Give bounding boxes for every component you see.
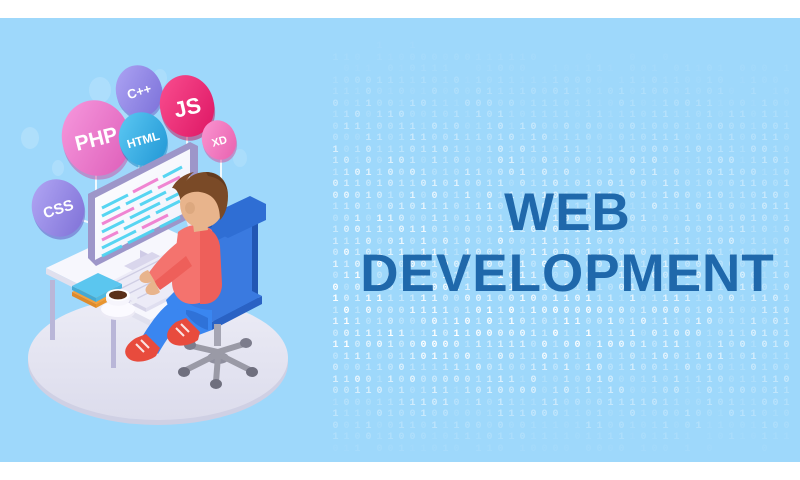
- binary-glyph: 0: [363, 76, 374, 88]
- binary-glyph: 1: [770, 375, 781, 387]
- binary-glyph: 0: [583, 409, 594, 421]
- binary-glyph: 1: [374, 53, 385, 65]
- binary-glyph: 0: [638, 110, 649, 122]
- binary-glyph: 0: [715, 122, 726, 134]
- binary-glyph: 1: [462, 363, 473, 375]
- binary-glyph: 1: [374, 110, 385, 122]
- binary-glyph: 1: [605, 168, 616, 180]
- binary-glyph: 1: [572, 409, 583, 421]
- binary-glyph: 1: [528, 398, 539, 410]
- binary-glyph: 1: [396, 398, 407, 410]
- binary-glyph: 1: [528, 168, 539, 180]
- binary-glyph: 1: [341, 444, 352, 456]
- binary-glyph: 1: [704, 421, 715, 433]
- binary-glyph: 1: [726, 168, 737, 180]
- binary-glyph: 0: [561, 99, 572, 111]
- binary-glyph: 1: [528, 432, 539, 444]
- binary-glyph: 0: [352, 363, 363, 375]
- binary-glyph: 0: [495, 168, 506, 180]
- binary-glyph: 0: [594, 317, 605, 329]
- binary-glyph: 0: [462, 317, 473, 329]
- binary-glyph: 1: [341, 168, 352, 180]
- binary-glyph: 1: [517, 122, 528, 134]
- binary-glyph: 0: [385, 317, 396, 329]
- binary-glyph: 1: [429, 110, 440, 122]
- binary-glyph: 1: [396, 386, 407, 398]
- binary-glyph: 1: [473, 53, 484, 65]
- binary-glyph: 1: [440, 99, 451, 111]
- binary-glyph: 1: [748, 122, 759, 134]
- binary-glyph: 1: [495, 375, 506, 387]
- binary-glyph: 1: [407, 421, 418, 433]
- binary-glyph: 0: [660, 409, 671, 421]
- binary-glyph: 0: [770, 317, 781, 329]
- binary-glyph: 1: [341, 375, 352, 387]
- binary-glyph: 0: [495, 329, 506, 341]
- binary-glyph: 1: [638, 444, 649, 456]
- binary-glyph: 0: [726, 99, 737, 111]
- binary-glyph: 1: [528, 145, 539, 157]
- binary-glyph: 1: [539, 432, 550, 444]
- binary-glyph: 1: [517, 444, 528, 456]
- binary-glyph: 0: [451, 340, 462, 352]
- binary-glyph: 0: [638, 386, 649, 398]
- binary-glyph: 0: [781, 409, 792, 421]
- binary-glyph: 0: [759, 76, 770, 88]
- binary-glyph: 0: [341, 329, 352, 341]
- binary-glyph: 1: [528, 133, 539, 145]
- binary-glyph: 0: [462, 375, 473, 387]
- binary-glyph: 1: [693, 168, 704, 180]
- binary-glyph: 0: [484, 421, 495, 433]
- binary-glyph: 0: [506, 363, 517, 375]
- binary-glyph: 0: [517, 363, 528, 375]
- binary-glyph: 0: [374, 444, 385, 456]
- binary-glyph: 0: [682, 421, 693, 433]
- binary-glyph: 1: [440, 122, 451, 134]
- binary-glyph: 0: [473, 99, 484, 111]
- binary-glyph: 0: [583, 76, 594, 88]
- binary-glyph: 1: [418, 386, 429, 398]
- binary-glyph: 0: [517, 99, 528, 111]
- binary-glyph: 1: [385, 53, 396, 65]
- binary-glyph: 1: [770, 386, 781, 398]
- binary-glyph: 0: [561, 340, 572, 352]
- binary-glyph: 0: [627, 168, 638, 180]
- binary-glyph: 1: [704, 329, 715, 341]
- binary-glyph: 0: [671, 409, 682, 421]
- binary-glyph: 1: [407, 122, 418, 134]
- binary-glyph: 0: [539, 317, 550, 329]
- binary-glyph: 0: [352, 340, 363, 352]
- binary-glyph: 1: [473, 432, 484, 444]
- binary-glyph: 1: [594, 375, 605, 387]
- binary-glyph: 1: [506, 87, 517, 99]
- binary-glyph: 1: [759, 156, 770, 168]
- binary-glyph: 0: [605, 421, 616, 433]
- binary-glyph: 1: [506, 76, 517, 88]
- binary-glyph: 1: [671, 145, 682, 157]
- binary-glyph: 0: [737, 352, 748, 364]
- binary-glyph: 1: [484, 444, 495, 456]
- binary-glyph: 0: [528, 53, 539, 65]
- binary-glyph: 1: [616, 352, 627, 364]
- binary-glyph: 1: [693, 122, 704, 134]
- binary-glyph: 1: [539, 375, 550, 387]
- binary-glyph: 0: [396, 340, 407, 352]
- binary-glyph: 1: [407, 306, 418, 318]
- binary-glyph: 1: [517, 352, 528, 364]
- binary-glyph: 1: [341, 122, 352, 134]
- binary-glyph: 0: [440, 409, 451, 421]
- binary-glyph: 1: [682, 110, 693, 122]
- binary-glyph: 0: [451, 444, 462, 456]
- binary-glyph: 0: [561, 444, 572, 456]
- binary-glyph: 1: [704, 340, 715, 352]
- binary-glyph: 0: [770, 156, 781, 168]
- binary-glyph: 1: [462, 145, 473, 157]
- binary-glyph: 1: [495, 110, 506, 122]
- binary-glyph: 1: [682, 386, 693, 398]
- binary-glyph: 0: [649, 156, 660, 168]
- binary-glyph: 0: [385, 386, 396, 398]
- binary-glyph: 1: [539, 99, 550, 111]
- binary-glyph: 1: [583, 145, 594, 157]
- binary-glyph: 1: [704, 76, 715, 88]
- binary-glyph: 1: [385, 409, 396, 421]
- binary-glyph: 1: [418, 444, 429, 456]
- binary-glyph: 1: [506, 398, 517, 410]
- binary-glyph: 1: [605, 133, 616, 145]
- binary-glyph: 1: [495, 53, 506, 65]
- binary-glyph: 1: [748, 409, 759, 421]
- binary-glyph: 0: [561, 168, 572, 180]
- binary-glyph: 0: [704, 168, 715, 180]
- binary-glyph: 1: [473, 76, 484, 88]
- binary-glyph: 0: [407, 53, 418, 65]
- binary-glyph: 0: [550, 363, 561, 375]
- binary-glyph: 1: [671, 317, 682, 329]
- binary-glyph: 1: [649, 432, 660, 444]
- binary-glyph: 0: [550, 122, 561, 134]
- binary-glyph: 1: [341, 409, 352, 421]
- binary-glyph: 1: [374, 317, 385, 329]
- binary-glyph: 0: [583, 398, 594, 410]
- binary-glyph: 0: [693, 409, 704, 421]
- binary-glyph: 0: [341, 156, 352, 168]
- binary-glyph: 0: [715, 375, 726, 387]
- binary-glyph: 0: [440, 53, 451, 65]
- binary-glyph: 0: [660, 306, 671, 318]
- binary-glyph: 1: [506, 156, 517, 168]
- binary-glyph: 0: [616, 306, 627, 318]
- binary-glyph: 0: [352, 432, 363, 444]
- binary-glyph: 0: [616, 122, 627, 134]
- binary-glyph: 0: [781, 421, 792, 433]
- binary-glyph: 1: [671, 340, 682, 352]
- binary-glyph: 0: [682, 363, 693, 375]
- binary-glyph: 0: [649, 444, 660, 456]
- binary-glyph: 0: [605, 87, 616, 99]
- binary-glyph: 1: [550, 398, 561, 410]
- binary-glyph: 1: [638, 156, 649, 168]
- binary-glyph: 1: [748, 340, 759, 352]
- binary-glyph: 1: [671, 375, 682, 387]
- binary-glyph: 1: [605, 432, 616, 444]
- binary-glyph: 1: [605, 317, 616, 329]
- binary-glyph: 1: [495, 409, 506, 421]
- binary-glyph: 0: [473, 156, 484, 168]
- binary-glyph: 1: [418, 306, 429, 318]
- binary-glyph: 1: [517, 340, 528, 352]
- binary-glyph: 1: [407, 444, 418, 456]
- binary-glyph: 1: [737, 363, 748, 375]
- binary-glyph: 1: [704, 375, 715, 387]
- binary-glyph: 1: [649, 168, 660, 180]
- binary-glyph: 1: [462, 168, 473, 180]
- binary-glyph: 0: [440, 375, 451, 387]
- binary-glyph: 0: [737, 99, 748, 111]
- binary-glyph: 0: [605, 363, 616, 375]
- binary-glyph: 1: [363, 122, 374, 134]
- binary-glyph: 1: [616, 432, 627, 444]
- binary-glyph: 1: [539, 145, 550, 157]
- binary-glyph: 1: [374, 41, 385, 53]
- binary-glyph: 0: [737, 64, 748, 76]
- binary-glyph: 1: [385, 87, 396, 99]
- binary-glyph: 1: [352, 64, 363, 76]
- binary-glyph: 0: [352, 110, 363, 122]
- binary-glyph: 0: [451, 409, 462, 421]
- binary-glyph: 0: [561, 352, 572, 364]
- binary-glyph: 1: [561, 110, 572, 122]
- binary-glyph: 0: [649, 329, 660, 341]
- binary-glyph: 1: [649, 99, 660, 111]
- binary-glyph: 1: [561, 329, 572, 341]
- binary-glyph: 1: [352, 409, 363, 421]
- binary-glyph: 1: [429, 386, 440, 398]
- binary-glyph: 0: [539, 156, 550, 168]
- binary-glyph: 1: [418, 145, 429, 157]
- binary-glyph: 1: [550, 432, 561, 444]
- binary-glyph: 0: [363, 340, 374, 352]
- binary-glyph: 0: [550, 87, 561, 99]
- binary-glyph: 1: [352, 386, 363, 398]
- binary-glyph: 1: [418, 363, 429, 375]
- binary-glyph: 0: [341, 363, 352, 375]
- binary-glyph: 0: [363, 110, 374, 122]
- binary-glyph: 1: [451, 110, 462, 122]
- binary-glyph: 1: [473, 110, 484, 122]
- binary-glyph: 1: [440, 386, 451, 398]
- binary-glyph: 0: [605, 99, 616, 111]
- binary-glyph: 0: [671, 64, 682, 76]
- binary-glyph: 0: [506, 168, 517, 180]
- binary-glyph: 1: [506, 145, 517, 157]
- binary-glyph: 1: [517, 156, 528, 168]
- binary-glyph: 1: [737, 409, 748, 421]
- binary-glyph: 0: [748, 145, 759, 157]
- binary-glyph: 1: [660, 99, 671, 111]
- binary-glyph: 0: [407, 110, 418, 122]
- binary-glyph: 1: [715, 133, 726, 145]
- binary-glyph: 1: [561, 363, 572, 375]
- binary-glyph: 1: [473, 317, 484, 329]
- binary-glyph: 1: [649, 317, 660, 329]
- binary-glyph: 0: [539, 168, 550, 180]
- binary-glyph: 0: [396, 53, 407, 65]
- binary-glyph: 0: [583, 87, 594, 99]
- binary-glyph: 1: [671, 398, 682, 410]
- binary-glyph: 0: [385, 421, 396, 433]
- binary-glyph: 0: [539, 87, 550, 99]
- binary-glyph: 0: [704, 122, 715, 134]
- binary-glyph: 0: [374, 340, 385, 352]
- binary-glyph: 0: [396, 306, 407, 318]
- binary-glyph: 0: [616, 386, 627, 398]
- binary-glyph: 0: [495, 99, 506, 111]
- binary-glyph: 1: [649, 133, 660, 145]
- binary-glyph: 1: [352, 87, 363, 99]
- binary-glyph: 1: [616, 76, 627, 88]
- binary-glyph: 0: [616, 340, 627, 352]
- binary-glyph: 1: [682, 409, 693, 421]
- binary-glyph: 1: [396, 145, 407, 157]
- title-line-web: WEB: [340, 186, 795, 239]
- binary-glyph: 1: [539, 76, 550, 88]
- binary-glyph: 0: [594, 306, 605, 318]
- binary-glyph: 1: [715, 87, 726, 99]
- binary-glyph: 1: [583, 363, 594, 375]
- binary-glyph: 0: [440, 110, 451, 122]
- binary-glyph: 1: [341, 340, 352, 352]
- binary-glyph: 0: [583, 375, 594, 387]
- binary-glyph: 1: [726, 363, 737, 375]
- binary-glyph: 0: [737, 133, 748, 145]
- banner-root: 1110100111001011010011101001011010100101…: [0, 18, 800, 462]
- binary-glyph: 1: [583, 432, 594, 444]
- binary-glyph: 0: [781, 99, 792, 111]
- binary-glyph: 1: [682, 64, 693, 76]
- binary-glyph: 1: [385, 76, 396, 88]
- binary-glyph: 0: [484, 317, 495, 329]
- binary-glyph: 1: [352, 99, 363, 111]
- binary-glyph: 1: [715, 352, 726, 364]
- binary-glyph: 0: [682, 99, 693, 111]
- binary-glyph: 1: [418, 64, 429, 76]
- binary-glyph: 1: [737, 329, 748, 341]
- binary-glyph: 0: [462, 122, 473, 134]
- binary-glyph: 0: [759, 122, 770, 134]
- binary-glyph: 0: [583, 156, 594, 168]
- binary-glyph: 0: [781, 306, 792, 318]
- binary-glyph: 1: [341, 432, 352, 444]
- binary-glyph: 1: [407, 99, 418, 111]
- binary-glyph: 0: [528, 375, 539, 387]
- binary-glyph: 0: [407, 432, 418, 444]
- binary-glyph: 1: [385, 156, 396, 168]
- binary-glyph: 1: [616, 168, 627, 180]
- binary-glyph: 0: [715, 317, 726, 329]
- binary-glyph: 0: [715, 398, 726, 410]
- binary-glyph: 1: [495, 133, 506, 145]
- binary-glyph: 1: [759, 421, 770, 433]
- binary-glyph: 1: [484, 386, 495, 398]
- binary-glyph: 0: [759, 145, 770, 157]
- binary-glyph: 1: [484, 64, 495, 76]
- binary-glyph: 0: [715, 432, 726, 444]
- binary-glyph: 1: [748, 375, 759, 387]
- binary-glyph: 0: [561, 156, 572, 168]
- binary-glyph: 1: [660, 421, 671, 433]
- binary-glyph: 0: [396, 375, 407, 387]
- binary-glyph: 1: [627, 432, 638, 444]
- binary-glyph: 0: [374, 421, 385, 433]
- binary-glyph: 1: [726, 398, 737, 410]
- binary-glyph: 1: [638, 168, 649, 180]
- binary-glyph: 0: [748, 110, 759, 122]
- binary-glyph: 0: [495, 444, 506, 456]
- binary-glyph: 1: [352, 352, 363, 364]
- binary-glyph: 0: [363, 317, 374, 329]
- binary-glyph: 1: [748, 99, 759, 111]
- binary-glyph: 1: [440, 306, 451, 318]
- binary-glyph: 1: [759, 110, 770, 122]
- binary-glyph: 1: [451, 317, 462, 329]
- binary-glyph: 1: [352, 156, 363, 168]
- binary-glyph: 0: [429, 53, 440, 65]
- binary-glyph: 0: [407, 409, 418, 421]
- binary-glyph: 0: [616, 99, 627, 111]
- binary-glyph: 0: [693, 363, 704, 375]
- binary-glyph: 0: [407, 386, 418, 398]
- binary-glyph: 1: [517, 409, 528, 421]
- binary-glyph: 0: [770, 363, 781, 375]
- tech-bubble-css[interactable]: CSS: [24, 172, 92, 246]
- binary-glyph: 1: [693, 306, 704, 318]
- binary-glyph: 0: [517, 432, 528, 444]
- binary-glyph: 0: [374, 87, 385, 99]
- binary-glyph: 1: [649, 375, 660, 387]
- binary-glyph: 0: [341, 306, 352, 318]
- binary-glyph: 0: [396, 156, 407, 168]
- binary-glyph: 0: [649, 363, 660, 375]
- binary-glyph: 0: [759, 398, 770, 410]
- binary-glyph: 1: [759, 375, 770, 387]
- binary-glyph: 1: [594, 340, 605, 352]
- binary-glyph: 0: [374, 386, 385, 398]
- binary-glyph: 1: [495, 317, 506, 329]
- binary-glyph: 0: [660, 87, 671, 99]
- binary-glyph: 1: [781, 398, 792, 410]
- binary-glyph: 0: [440, 133, 451, 145]
- binary-glyph: 0: [759, 317, 770, 329]
- binary-glyph: 1: [539, 110, 550, 122]
- binary-glyph: 1: [627, 110, 638, 122]
- binary-glyph: 0: [495, 64, 506, 76]
- binary-glyph: 1: [693, 156, 704, 168]
- binary-glyph: 1: [506, 375, 517, 387]
- binary-glyph: 1: [649, 64, 660, 76]
- binary-glyph: 0: [528, 340, 539, 352]
- binary-glyph: 1: [473, 133, 484, 145]
- binary-glyph: 1: [572, 329, 583, 341]
- binary-glyph: 0: [693, 76, 704, 88]
- binary-glyph: 1: [341, 87, 352, 99]
- binary-glyph: 1: [605, 329, 616, 341]
- binary-glyph: 0: [429, 340, 440, 352]
- binary-glyph: 0: [451, 122, 462, 134]
